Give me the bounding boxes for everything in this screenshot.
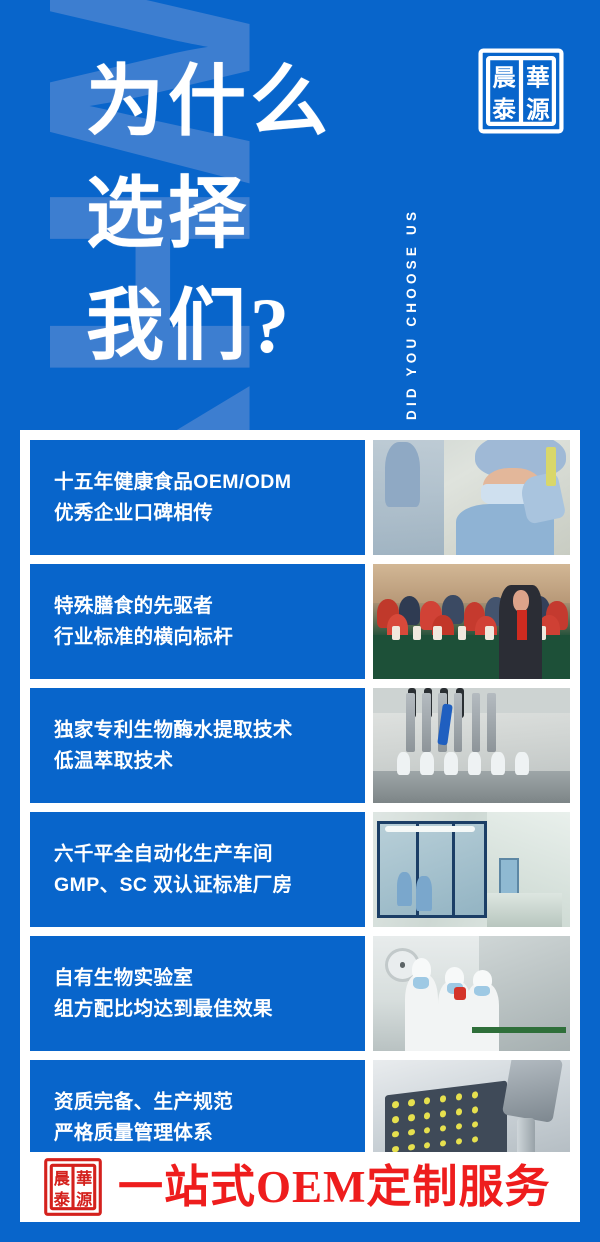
feature-line-2: GMP、SC 双认证标准厂房 (54, 870, 365, 901)
cards-list: 十五年健康食品OEM/ODM 优秀企业口碑相传 特殊膳食的先驱者 行业标准的横向… (30, 440, 570, 1175)
filling-machine-photo (373, 688, 570, 803)
seal-char-4: 源 (76, 1190, 92, 1209)
feature-line-1: 自有生物实验室 (54, 963, 365, 994)
poster-root: WHY DID YOU CHOOSE US 为什么 选择 我们? 晨 華 泰 源… (0, 0, 600, 1242)
seal-char-1: 晨 (492, 65, 516, 91)
headline-line-1: 为什么 (86, 46, 332, 158)
seal-char-3: 泰 (492, 96, 516, 123)
cards-frame: 十五年健康食品OEM/ODM 优秀企业口碑相传 特殊膳食的先驱者 行业标准的横向… (20, 430, 580, 1222)
feature-card-text: 独家专利生物酶水提取技术 低温萃取技术 (30, 688, 365, 803)
feature-line-2: 组方配比均达到最佳效果 (54, 994, 365, 1025)
banner-slogan: 一站式OEM定制服务 (118, 1161, 551, 1213)
feature-line-2: 优秀企业口碑相传 (54, 498, 365, 529)
conference-audience-photo (373, 564, 570, 679)
feature-line-2: 行业标准的横向标杆 (54, 622, 365, 653)
seal-char-2: 華 (526, 64, 550, 91)
feature-card[interactable]: 六千平全自动化生产车间 GMP、SC 双认证标准厂房 (30, 812, 570, 927)
feature-line-1: 六千平全自动化生产车间 (54, 839, 365, 870)
company-seal-icon: 晨 華 泰 源 (42, 1156, 104, 1218)
headline-line-3: 我们? (86, 270, 332, 382)
seal-char-3: 泰 (53, 1190, 71, 1209)
feature-card[interactable]: 特殊膳食的先驱者 行业标准的横向标杆 (30, 564, 570, 679)
feature-card[interactable]: 自有生物实验室 组方配比均达到最佳效果 (30, 936, 570, 1051)
feature-line-1: 特殊膳食的先驱者 (54, 591, 365, 622)
headline-line-2: 选择 (86, 158, 332, 270)
feature-card[interactable]: 十五年健康食品OEM/ODM 优秀企业口碑相传 (30, 440, 570, 555)
lab-technicians-photo (373, 936, 570, 1051)
seal-char-4: 源 (526, 96, 550, 123)
feature-card-text: 自有生物实验室 组方配比均达到最佳效果 (30, 936, 365, 1051)
lab-technician-pipette-photo (373, 440, 570, 555)
feature-line-1: 资质完备、生产规范 (54, 1087, 365, 1118)
feature-line-1: 独家专利生物酶水提取技术 (54, 715, 365, 746)
feature-line-2: 严格质量管理体系 (54, 1118, 365, 1149)
feature-card-text: 十五年健康食品OEM/ODM 优秀企业口碑相传 (30, 440, 365, 555)
feature-card[interactable]: 独家专利生物酶水提取技术 低温萃取技术 (30, 688, 570, 803)
bottom-banner: 晨 華 泰 源 一站式OEM定制服务 (20, 1152, 580, 1222)
page-title: 为什么 选择 我们? (86, 46, 332, 382)
cleanroom-corridor-photo (373, 812, 570, 927)
feature-card-text: 六千平全自动化生产车间 GMP、SC 双认证标准厂房 (30, 812, 365, 927)
vertical-caption: DID YOU CHOOSE US (398, 0, 426, 420)
company-seal-icon: 晨 華 泰 源 (474, 44, 568, 138)
feature-line-1: 十五年健康食品OEM/ODM (54, 467, 365, 498)
seal-char-2: 華 (76, 1169, 92, 1188)
seal-char-1: 晨 (54, 1170, 71, 1188)
feature-line-2: 低温萃取技术 (54, 746, 365, 777)
feature-card-text: 特殊膳食的先驱者 行业标准的横向标杆 (30, 564, 365, 679)
